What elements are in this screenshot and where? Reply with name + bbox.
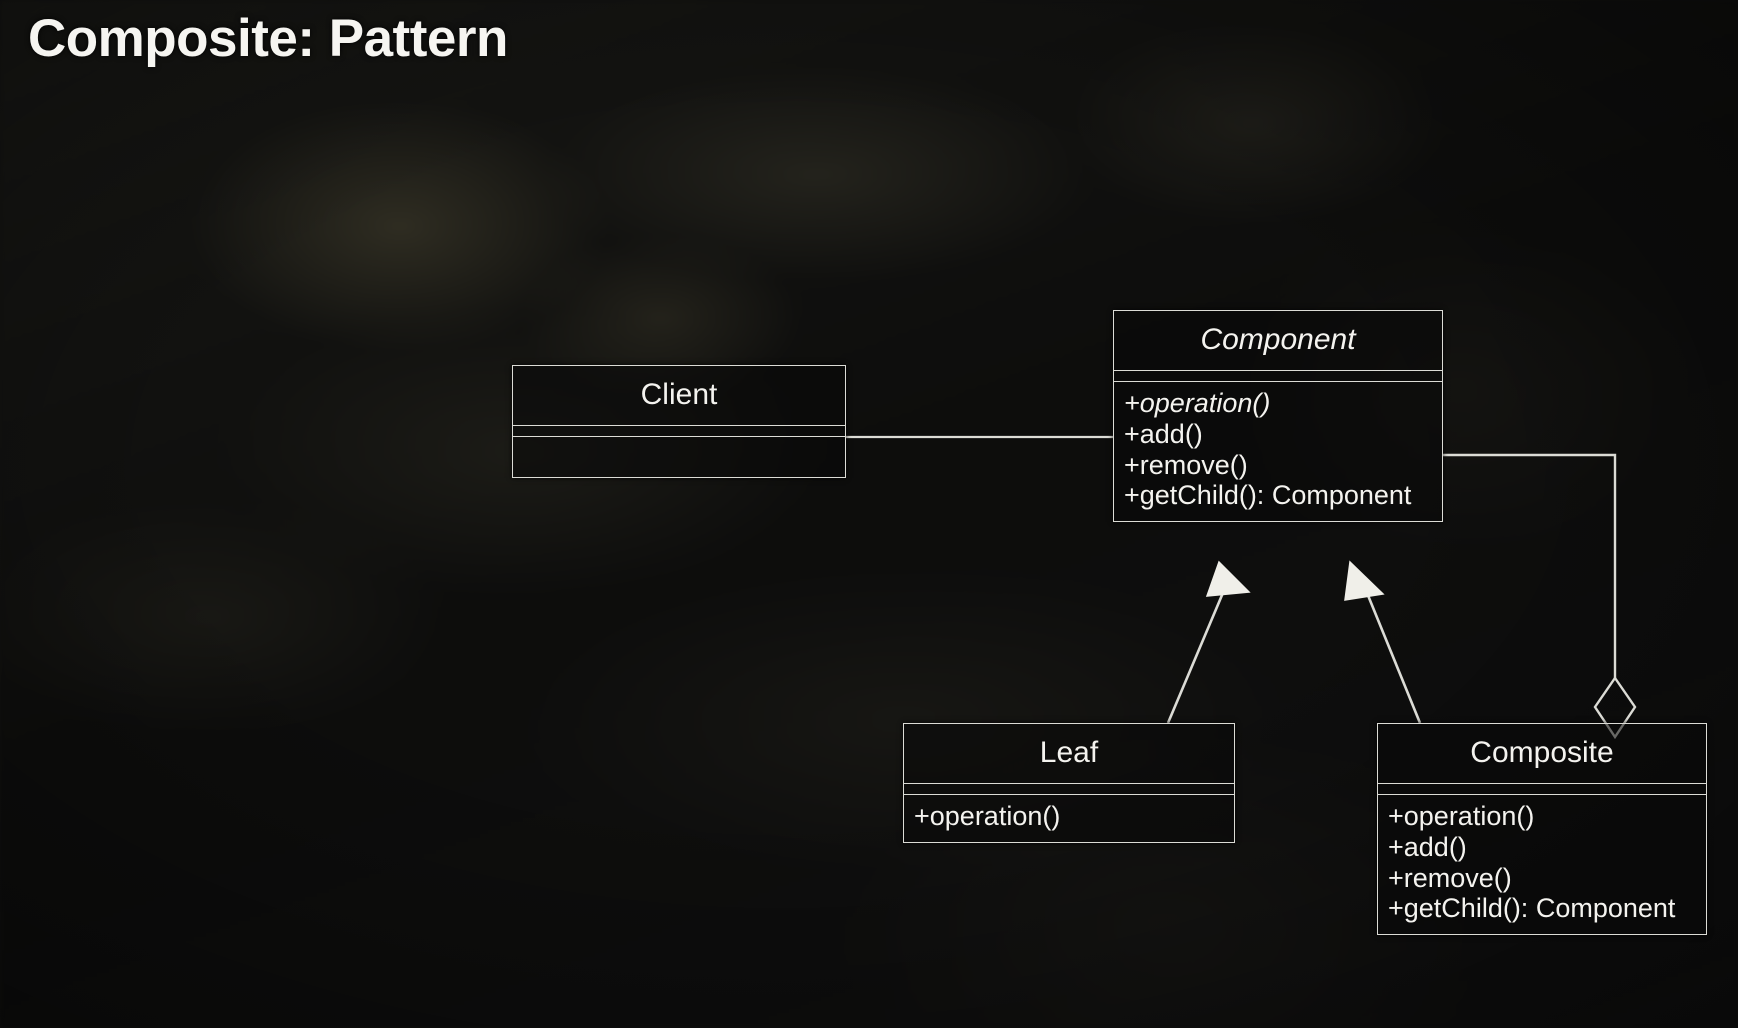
uml-class-component[interactable]: Component +operation() +add() +remove() … — [1113, 310, 1443, 522]
uml-class-client[interactable]: Client — [512, 365, 846, 478]
uml-class-component-attributes — [1114, 370, 1442, 381]
uml-class-leaf[interactable]: Leaf +operation() — [903, 723, 1235, 843]
uml-class-component-title: Component — [1114, 311, 1442, 370]
uml-class-client-title: Client — [513, 366, 845, 425]
uml-operation: +add() — [1124, 419, 1442, 450]
uml-class-component-operations: +operation() +add() +remove() +getChild(… — [1114, 381, 1442, 521]
uml-class-composite-operations: +operation() +add() +remove() +getChild(… — [1378, 794, 1706, 934]
uml-class-composite-attributes — [1378, 783, 1706, 794]
uml-operation: +remove() — [1388, 863, 1706, 894]
uml-operation: +operation() — [1388, 801, 1706, 832]
slide-title: Composite: Pattern — [28, 8, 508, 69]
uml-class-leaf-operations: +operation() — [904, 794, 1234, 842]
uml-class-client-operations — [513, 436, 845, 477]
slide-canvas: Composite: Pattern Client Component +ope… — [0, 0, 1738, 1028]
uml-operation: +getChild(): Component — [1388, 893, 1706, 924]
uml-operation: +operation() — [914, 801, 1234, 832]
uml-operation: +getChild(): Component — [1124, 480, 1442, 511]
uml-operation: +operation() — [1124, 388, 1442, 419]
uml-operation: +remove() — [1124, 450, 1442, 481]
uml-class-leaf-attributes — [904, 783, 1234, 794]
uml-operation: +add() — [1388, 832, 1706, 863]
uml-class-client-attributes — [513, 425, 845, 436]
uml-class-leaf-title: Leaf — [904, 724, 1234, 783]
uml-class-composite-title: Composite — [1378, 724, 1706, 783]
uml-class-composite[interactable]: Composite +operation() +add() +remove() … — [1377, 723, 1707, 935]
